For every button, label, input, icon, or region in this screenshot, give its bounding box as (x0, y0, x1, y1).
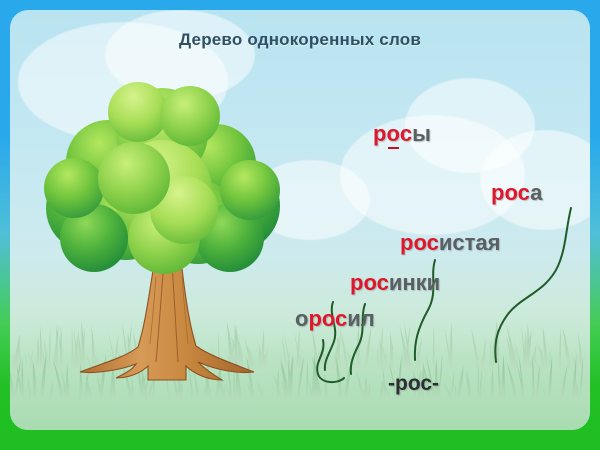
slide-frame: Дерево однокоренных слов (0, 0, 600, 450)
word-label-rosa[interactable]: роса (491, 182, 542, 204)
word-root-segment: рос (308, 306, 347, 331)
word-affix-segment: ы (412, 121, 431, 146)
word-affix-segment: инки (389, 270, 440, 295)
word-affix-segment: о (295, 306, 308, 331)
word-root-segment: рос (491, 180, 530, 205)
word-affix-segment: а (530, 180, 542, 205)
word-root-segment: р (373, 121, 386, 146)
word-label-orosil[interactable]: оросил (295, 308, 375, 330)
word-affix-segment: ил (347, 306, 375, 331)
word-root-segment: рос (400, 230, 439, 255)
word-affix-segment: истая (439, 230, 501, 255)
slide-canvas: Дерево однокоренных слов (10, 10, 590, 430)
word-root-segment: рос (350, 270, 389, 295)
word-label-rosistaya[interactable]: росистая (400, 232, 500, 254)
word-root-segment: о (386, 121, 399, 146)
root-morpheme-label: -рос- (388, 373, 439, 394)
word-root-segment: с (400, 121, 412, 146)
oak-tree-illustration (38, 72, 288, 402)
word-label-rosinki[interactable]: росинки (350, 272, 440, 294)
page-title: Дерево однокоренных слов (10, 30, 590, 50)
tree-crown (44, 82, 280, 274)
word-label-rosy[interactable]: росы (373, 123, 431, 145)
